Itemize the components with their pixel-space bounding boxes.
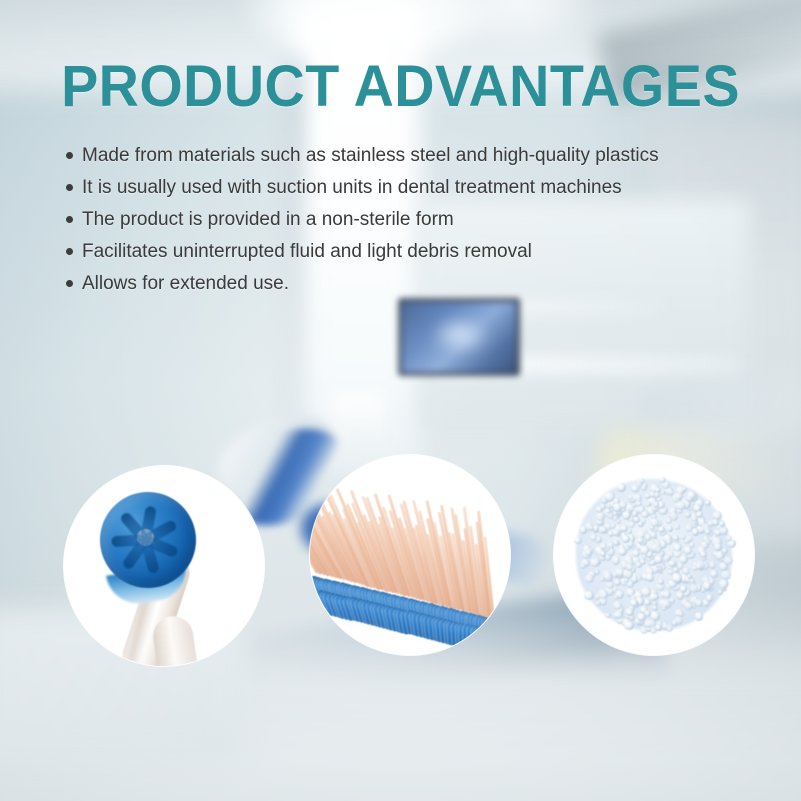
resin-pellet: [642, 554, 647, 559]
resin-pellet: [622, 535, 629, 542]
resin-pellet: [692, 528, 700, 536]
resin-pellet: [721, 570, 731, 580]
resin-pellet: [634, 517, 640, 523]
resin-pellet: [665, 594, 670, 599]
resin-pellet: [719, 527, 727, 535]
resin-pellet: [712, 519, 718, 525]
resin-pellet: [676, 591, 684, 599]
resin-pellet: [667, 526, 673, 532]
saliva-ejector-tip-illustration: [64, 466, 264, 666]
resin-pellet: [580, 563, 586, 569]
resin-pellet: [709, 561, 717, 569]
resin-pellet: [615, 611, 623, 619]
resin-pellet: [710, 570, 718, 578]
resin-pellet: [719, 579, 729, 589]
product-image-row: [0, 0, 801, 801]
resin-pellet: [684, 546, 693, 555]
resin-pellet: [618, 547, 627, 556]
resin-pellet: [684, 602, 693, 611]
resin-pellet: [600, 592, 608, 600]
resin-pellet: [668, 489, 674, 495]
resin-pellet: [574, 537, 582, 545]
resin-pellet: [654, 555, 663, 564]
resin-pellet: [658, 579, 664, 585]
resin-pellet: [658, 526, 665, 533]
resin-pellet: [602, 570, 612, 580]
resin-pellet: [668, 560, 676, 568]
resin-pellet: [661, 565, 666, 570]
resin-pellet: [612, 529, 620, 537]
resin-pellet: [627, 529, 632, 534]
resin-pellet: [687, 536, 693, 542]
resin-pellet: [695, 612, 703, 620]
resin-pellet: [654, 492, 660, 498]
resin-pellet: [645, 501, 651, 507]
ejector-tube-lower: [151, 614, 202, 666]
product-photo-saliva-ejector-tip: [64, 466, 264, 666]
resin-pellet: [666, 624, 673, 631]
product-photo-resin-pellets: [554, 455, 754, 655]
resin-pellet: [641, 511, 648, 518]
resin-pellet: [714, 543, 722, 551]
resin-pellet: [613, 601, 622, 610]
product-photo-saliva-ejector-bundle: [310, 455, 510, 655]
resin-pellet: [625, 563, 633, 571]
product-advantages-poster: PRODUCT ADVANTAGES Made from materials s…: [0, 0, 801, 801]
resin-pellet: [652, 543, 662, 553]
resin-pellet: [706, 594, 714, 602]
resin-pellet: [679, 555, 688, 564]
resin-pellet: [661, 605, 667, 611]
resin-pellet: [723, 556, 733, 566]
resin-pellet: [696, 563, 702, 569]
resin-pellet: [659, 477, 666, 484]
resin-pellet: [590, 558, 600, 568]
resin-pellet: [624, 621, 634, 631]
resin-pellet: [676, 501, 685, 510]
resin-pellet: [605, 613, 610, 618]
resin-pellet: [610, 523, 616, 529]
resin-pellet: [585, 549, 592, 556]
resin-pellet: [637, 613, 646, 622]
resin-pellet: [682, 567, 690, 575]
resin-pellet: [641, 485, 647, 491]
resin-pellet: [696, 511, 703, 518]
resin-pellet: [584, 591, 594, 601]
resin-pellet: [690, 584, 699, 593]
resin-pellet: [631, 484, 640, 493]
resin-pellet: [625, 608, 634, 617]
resin-pellet: [646, 573, 654, 581]
ejector-blue-tip: [488, 631, 500, 655]
resin-pellets-illustration: [554, 455, 754, 655]
resin-pellet: [705, 538, 712, 545]
resin-pellet: [652, 601, 657, 606]
resin-pellet: [653, 501, 659, 507]
resin-pellet: [622, 511, 631, 520]
resin-pellet: [675, 524, 680, 529]
resin-pellet: [600, 551, 606, 557]
resin-pellet: [673, 567, 679, 573]
resin-pellet: [672, 573, 681, 582]
saliva-ejector-bundle-illustration: [310, 455, 510, 655]
resin-pellet: [705, 500, 711, 506]
resin-pellet: [628, 521, 635, 528]
resin-pellet: [619, 501, 627, 509]
resin-pellet: [704, 583, 711, 590]
resin-pellet: [641, 587, 650, 596]
resin-pellet: [596, 512, 605, 521]
